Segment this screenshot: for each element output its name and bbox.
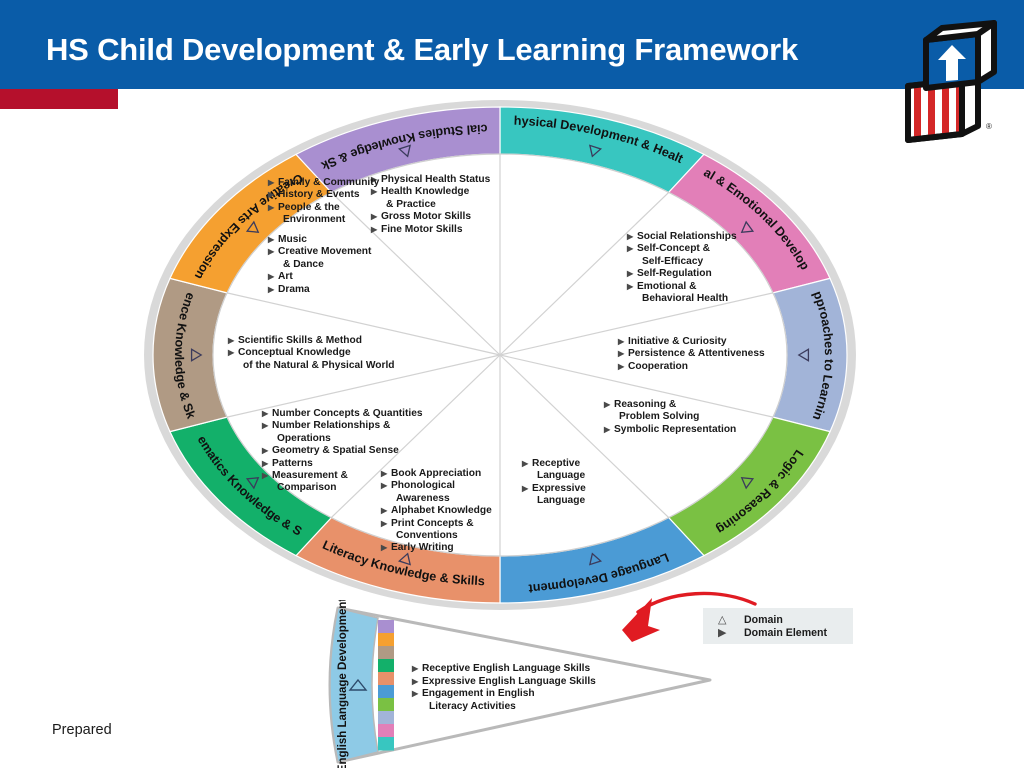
element-item-cont: & Dance	[268, 259, 371, 271]
element-list-social-studies-knowledge-skills: Family & Community History & Events Peop…	[268, 177, 379, 227]
element-item: Patterns	[262, 458, 423, 470]
domain-element-triangle-icon: ▶	[718, 626, 744, 639]
wedge-stripe	[378, 698, 394, 712]
element-item: Number Concepts & Quantities	[262, 408, 423, 420]
wedge-stripe	[378, 737, 394, 751]
domain-triangle-icon: △	[718, 613, 744, 626]
element-item: Number Relationships &	[262, 420, 423, 432]
element-item: Physical Health Status	[371, 174, 490, 186]
prepared-text: Prepared	[52, 722, 112, 738]
element-item: Reasoning &	[604, 399, 736, 411]
element-item: Drama	[268, 284, 371, 296]
wedge-stripe	[378, 646, 394, 660]
element-list-logic-reasoning: Reasoning & Problem Solving Symbolic Rep…	[604, 399, 736, 436]
element-item: Cooperation	[618, 361, 765, 373]
element-item: Social Relationships	[627, 231, 737, 243]
wedge-stripe	[378, 672, 394, 686]
element-item: Measurement &	[262, 470, 423, 482]
registered-mark: ®	[986, 122, 992, 131]
page-title: HS Child Development & Early Learning Fr…	[46, 32, 906, 68]
element-item: Alphabet Knowledge	[381, 505, 492, 517]
legend-row-domain-element: ▶Domain Element	[718, 626, 827, 639]
element-item: Scientific Skills & Method	[228, 335, 395, 347]
slide-root: HS Child Development & Early Learning Fr…	[0, 0, 1024, 768]
legend-label-domain-element: Domain Element	[744, 627, 827, 639]
wedge-stripe	[378, 620, 394, 634]
element-item-cont: Literacy Activities	[412, 701, 596, 714]
element-item: Geometry & Spatial Sense	[262, 445, 423, 457]
wedge-stripe	[378, 659, 394, 673]
element-list-english-language-development: Receptive English Language Skills Expres…	[412, 663, 596, 713]
legend-row-domain: △Domain	[718, 613, 783, 626]
element-item: Receptive	[522, 458, 586, 470]
svg-text:English Language Development: English Language Development	[337, 600, 349, 768]
element-item: Print Concepts &	[381, 518, 492, 530]
element-item-cont: Conventions	[381, 530, 492, 542]
element-item: History & Events	[268, 189, 379, 201]
element-item: Creative Movement	[268, 246, 371, 258]
head-start-blocks-logo	[900, 18, 1000, 143]
element-item: Emotional &	[627, 281, 737, 293]
element-item: Persistence & Attentiveness	[618, 348, 765, 360]
element-item: Initiative & Curiosity	[618, 336, 765, 348]
element-item-cont: Self-Efficacy	[627, 256, 737, 268]
element-list-language-development: Receptive Language Expressive Language	[522, 458, 586, 508]
element-item: Expressive	[522, 483, 586, 495]
element-item: Music	[268, 234, 371, 246]
element-item: Family & Community	[268, 177, 379, 189]
element-list-science-knowledge-skills: Scientific Skills & Method Conceptual Kn…	[228, 335, 395, 372]
wedge-stripe	[378, 685, 394, 699]
element-list-social-emotional-development: Social Relationships Self-Concept & Self…	[627, 231, 737, 305]
element-item: Gross Motor Skills	[371, 211, 490, 223]
element-item: Art	[268, 271, 371, 283]
element-item-cont: of the Natural & Physical World	[228, 360, 395, 372]
element-item: Health Knowledge	[371, 186, 490, 198]
element-list-creative-arts-expression: Music Creative Movement & Dance Art Dram…	[268, 234, 371, 296]
element-item: People & the	[268, 202, 379, 214]
element-item-cont: Operations	[262, 433, 423, 445]
element-item-cont: Comparison	[262, 482, 423, 494]
legend: △Domain ▶Domain Element	[703, 608, 853, 644]
element-item: Early Writing	[381, 542, 492, 554]
wedge-stripe	[378, 633, 394, 647]
element-item: Expressive English Language Skills	[412, 676, 596, 689]
element-item: Receptive English Language Skills	[412, 663, 596, 676]
element-item-cont: Language	[522, 470, 586, 482]
element-item: Self-Concept &	[627, 243, 737, 255]
element-list-physical-development-health: Physical Health Status Health Knowledge …	[371, 174, 490, 236]
element-item-cont: Problem Solving	[604, 411, 736, 423]
element-list-mathematics-knowledge-skills: Number Concepts & Quantities Number Rela…	[262, 408, 423, 495]
element-item-cont: Environment	[268, 214, 379, 226]
element-item-cont: Language	[522, 495, 586, 507]
element-item-cont: & Practice	[371, 199, 490, 211]
element-item: Symbolic Representation	[604, 424, 736, 436]
element-item: Self-Regulation	[627, 268, 737, 280]
legend-label-domain: Domain	[744, 614, 783, 626]
wedge-stripe	[378, 724, 394, 738]
element-item: Fine Motor Skills	[371, 224, 490, 236]
element-item: Engagement in English	[412, 688, 596, 701]
element-item: Conceptual Knowledge	[228, 347, 395, 359]
element-list-approaches-to-learning: Initiative & Curiosity Persistence & Att…	[618, 336, 765, 373]
element-item-cont: Behavioral Health	[627, 293, 737, 305]
wedge-stripe	[378, 711, 394, 725]
